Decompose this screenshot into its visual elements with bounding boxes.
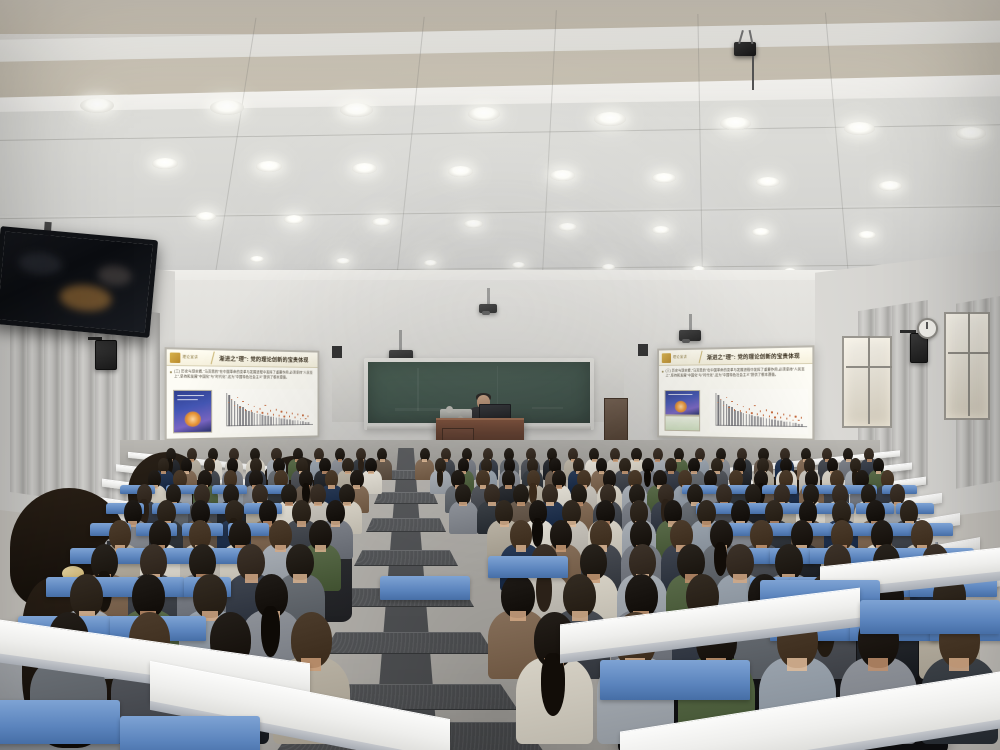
tv-screen-glow (59, 283, 113, 314)
audience-neck (293, 574, 306, 582)
thumb-line (177, 399, 198, 400)
audience-neck (161, 471, 167, 475)
chart-point (276, 409, 277, 410)
chart-bar (769, 418, 771, 426)
slide-thumbnail-image (665, 390, 701, 416)
chart-bar (248, 410, 250, 425)
audience-neck (546, 502, 554, 507)
chart-point (254, 406, 255, 407)
chart-point (297, 414, 298, 415)
audience-neck (634, 459, 639, 462)
ceiling-downlight (512, 262, 525, 268)
chart-point (731, 401, 732, 402)
chart-point (745, 411, 746, 412)
slide-header: 理论宣讲 渐进之"理": 党的理论创新的宝贵体现 (167, 349, 318, 368)
slide-thumbnail-secondary (665, 415, 701, 431)
speaker-icon (332, 346, 342, 358)
ceiling-downlight (352, 163, 377, 174)
audience-neck (655, 459, 660, 462)
slide-body-text: (三) 历史与现实看,"马克思的"在中国革命的变革与发展进程中发挥了重要作用,必… (665, 367, 807, 379)
ceiling-downlight (652, 226, 670, 234)
chart-bar (789, 422, 791, 427)
chart-bar (743, 413, 745, 426)
ceiling-downlight (152, 158, 178, 169)
ceiling-downlight (720, 117, 751, 130)
chart-bar (251, 411, 253, 425)
chart-point (286, 412, 287, 413)
slide-title: 渐进之"理": 党的理论创新的宝贵体现 (219, 354, 308, 364)
chart-bar (300, 421, 301, 425)
board-side-panel (332, 360, 368, 422)
chart-point (763, 415, 764, 416)
chart-point (262, 412, 263, 413)
chart-point (284, 416, 285, 417)
ceiling-downlight (372, 218, 391, 226)
chart-point (737, 404, 738, 405)
seat-back (0, 700, 120, 744)
thumb-glow (675, 401, 687, 413)
audience-neck (949, 658, 969, 671)
chart-point (292, 413, 293, 414)
audience-neck (505, 485, 512, 489)
chart-bar (795, 423, 797, 427)
chart-bar (254, 412, 256, 425)
chart-bar (305, 422, 306, 425)
chart-bar (783, 421, 785, 426)
chart-bar (754, 416, 756, 426)
chart-point (726, 397, 727, 398)
chart-point (308, 416, 309, 417)
chart-bar (308, 422, 309, 425)
audience-neck (380, 459, 385, 462)
chart-point (777, 413, 778, 414)
tv-screen-glow (97, 264, 133, 287)
chart-bar (720, 399, 722, 426)
chart-point (786, 418, 787, 419)
audience-ponytail (644, 469, 651, 487)
chart-point (783, 414, 784, 415)
ceiling-camera-icon (734, 42, 756, 56)
slide-chart (710, 389, 808, 435)
chart-point (302, 415, 303, 416)
projector-pole (399, 330, 402, 352)
slide-divider (211, 351, 215, 364)
ceiling-downlight (956, 127, 986, 140)
audience-ponytail (437, 469, 444, 487)
window-pane (944, 312, 990, 420)
chart-bar (731, 407, 733, 426)
audience-neck (328, 485, 335, 489)
tv-screen-glow (18, 251, 64, 277)
window-mullion (968, 312, 970, 416)
chart-bar (717, 395, 719, 426)
chart-point (743, 406, 744, 407)
seat-back (120, 716, 260, 750)
chart-point (265, 405, 266, 406)
chart-bar (777, 420, 779, 426)
chart-y-axis (226, 393, 227, 426)
chart-bar (270, 416, 272, 425)
chart-point (774, 417, 775, 418)
seat-back (860, 600, 1000, 634)
audience-neck (516, 545, 527, 552)
chart-bar (297, 420, 298, 425)
chart-point (267, 413, 268, 414)
chart-bar (302, 421, 303, 425)
chart-bar (231, 399, 233, 426)
audience-neck (676, 459, 681, 462)
chart-bar (726, 404, 728, 426)
slide-thumbnail-image (173, 390, 212, 434)
audience-neck (275, 545, 286, 552)
audience-neck (459, 502, 467, 507)
chart-bar (292, 420, 293, 425)
ceiling-camera-pole (752, 56, 754, 90)
ceiling-downlight (756, 177, 780, 187)
chart-bar (771, 419, 773, 426)
right-projection-screen[interactable]: 理论宣讲 渐进之"理": 党的理论创新的宝贵体现 (三) 历史与现实看,"马克思… (657, 345, 814, 440)
ceiling-downlight (424, 260, 437, 266)
chart-bar (245, 409, 247, 426)
chart-point (780, 417, 781, 418)
audience-neck (787, 658, 807, 671)
chart-bar (798, 424, 800, 427)
chart-bar (786, 422, 788, 427)
audience-member (255, 574, 288, 666)
audience-member (365, 458, 377, 490)
chart-bar (289, 419, 290, 425)
seat-back (488, 556, 568, 578)
chart-point (795, 416, 796, 417)
chart-bar (729, 406, 731, 426)
slide-divider (699, 351, 703, 364)
ceiling-downlight (250, 256, 264, 262)
chart-point (757, 414, 758, 415)
window-pane (842, 336, 892, 428)
ceiling-downlight (210, 100, 244, 115)
chart-point (769, 416, 770, 417)
chart-bar (757, 416, 759, 426)
chart-point (259, 408, 260, 409)
chart-point (748, 408, 749, 409)
slide-org-text: 理论宣讲 (182, 354, 198, 359)
chart-point (289, 416, 290, 417)
chart-point (751, 412, 752, 413)
chart-point (237, 397, 238, 398)
audience-neck (868, 658, 888, 671)
audience-member (501, 574, 534, 666)
chart-bar (240, 406, 242, 426)
chart-point (273, 414, 274, 415)
chart-point (294, 417, 295, 418)
chalk-streak (532, 407, 563, 409)
chart-point (801, 417, 802, 418)
left-projection-screen[interactable]: 理论宣讲 渐进之"理": 党的理论创新的宝贵体现 (三) 历史与现实看,"马克思… (165, 347, 320, 441)
seat-back (380, 576, 470, 600)
chart-bar (286, 419, 287, 425)
chart-point (270, 410, 271, 411)
ceiling-downlight (284, 215, 304, 224)
chart-point (798, 419, 799, 420)
slide-bullet-icon (662, 370, 664, 372)
chart-point (754, 405, 755, 406)
thumb-line (668, 394, 692, 395)
slide-header: 理论宣讲 渐进之"理": 党的理论创新的宝贵体现 (659, 347, 812, 366)
audience-ponytail (532, 518, 543, 547)
audience-neck (297, 521, 306, 527)
chart-point (242, 401, 243, 402)
audience-neck (500, 521, 509, 527)
audience-neck (422, 459, 427, 462)
slide-bullet-icon (170, 371, 172, 373)
slide-org-text: 理论宣讲 (673, 354, 687, 359)
chart-point (792, 419, 793, 420)
chart-bar (766, 418, 768, 426)
clock-icon (917, 318, 938, 339)
ceiling-downlight (468, 107, 500, 121)
chart-bar (265, 415, 267, 425)
chart-bar (294, 420, 295, 425)
chart-bar (774, 419, 776, 426)
chart-bar (242, 407, 244, 426)
chart-bar (745, 414, 747, 426)
aisle-step (322, 632, 494, 654)
audience-member (420, 448, 430, 476)
thumb-line (177, 395, 204, 396)
chart-bar (751, 415, 753, 426)
ceiling-downlight (878, 181, 902, 191)
audience-neck (315, 545, 326, 552)
chart-point (766, 409, 767, 410)
chart-y-axis (715, 393, 716, 426)
chart-point (300, 418, 301, 419)
ceiling-downlight (858, 231, 876, 239)
slide-title: 渐进之"理": 党的理论创新的宝贵体现 (707, 351, 800, 361)
slide-body-text: (三) 历史与现实看,"马克思的"在中国革命的变革与发展进程中发挥了重要作用,必… (174, 369, 313, 381)
chart-point (248, 404, 249, 405)
lectern-equipment-knob (446, 406, 453, 413)
aisle-step (374, 492, 438, 504)
ceiling-downlight (594, 112, 626, 126)
audience-member (435, 458, 447, 490)
slide-chart (220, 389, 314, 434)
audience-neck (314, 502, 322, 507)
ceiling-downlight (256, 161, 282, 172)
ceiling-downlight (558, 223, 577, 231)
slide-logo-icon (662, 353, 671, 363)
chart-bar (760, 417, 762, 426)
chart-bar (256, 413, 258, 425)
chart-point (760, 410, 761, 411)
ceiling-downlight (844, 122, 875, 135)
chart-bar (237, 404, 239, 426)
audience-neck (331, 521, 340, 527)
chart-bar (284, 418, 285, 425)
audience-neck (368, 471, 374, 475)
chalk-streak (417, 368, 419, 411)
wall-tv-icon[interactable] (0, 226, 158, 338)
chart-bar (737, 411, 739, 427)
window-mullion (868, 336, 870, 424)
ceiling-downlight (550, 170, 575, 181)
speaker-icon (95, 340, 117, 370)
projector-icon (679, 330, 701, 341)
audience-ponytail (261, 606, 280, 657)
chart-bar (276, 417, 278, 425)
audience-member (286, 544, 313, 620)
ceiling-downlight (752, 228, 770, 236)
chart-bar (228, 395, 230, 426)
ceiling-downlight (448, 166, 473, 177)
audience-member (455, 484, 471, 528)
slide-logo-icon (170, 352, 180, 363)
audience-neck (622, 471, 628, 475)
lecture-hall-photo: 理论宣讲 渐进之"理": 党的理论创新的宝贵体现 (三) 历史与现实看,"马克思… (0, 0, 1000, 750)
ceiling-downlight (336, 258, 350, 264)
chart-bar (278, 417, 280, 425)
chart-point (789, 415, 790, 416)
speaker-icon (638, 344, 648, 356)
chart-bar (740, 412, 742, 427)
ceiling-downlight (340, 103, 373, 117)
chart-bar (763, 417, 765, 426)
ceiling-downlight (464, 220, 483, 228)
chart-point (278, 415, 279, 416)
ceiling-downlight (80, 98, 114, 113)
audience-neck (867, 459, 872, 462)
chart-bar (748, 414, 750, 426)
chart-bar (801, 424, 803, 427)
chart-point (305, 418, 306, 419)
thumb-glow (185, 411, 201, 427)
chart-bar (792, 423, 794, 427)
chart-point (771, 412, 772, 413)
chart-bar (780, 420, 782, 426)
chart-bar (262, 414, 264, 425)
chart-point (256, 411, 257, 412)
projector-icon (479, 304, 497, 313)
chart-bar (259, 413, 261, 425)
audience-neck (733, 574, 746, 582)
ceiling-downlight (196, 212, 216, 221)
chart-bar (273, 416, 275, 425)
aisle-step (366, 518, 446, 532)
ceiling-downlight (652, 173, 676, 183)
chart-bar (734, 410, 736, 427)
audience-neck (668, 471, 674, 475)
audience-neck (510, 611, 526, 621)
seat-back (600, 660, 750, 700)
aisle-step (354, 550, 458, 566)
audience-neck (613, 459, 618, 462)
chart-bar (267, 415, 269, 425)
chart-point (281, 411, 282, 412)
audience-neck (517, 502, 525, 507)
side-cabinet (604, 398, 628, 444)
chart-bar (281, 418, 283, 425)
